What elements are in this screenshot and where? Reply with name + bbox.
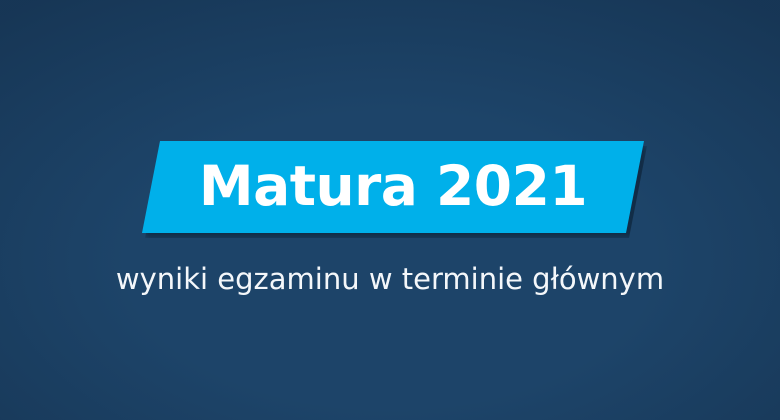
promo-banner-graphic: Matura 2021 wyniki egzaminu w terminie g… [0,0,780,420]
page-title: Matura 2021 [199,159,587,214]
title-banner-container: Matura 2021 [142,141,644,233]
page-subtitle: wyniki egzaminu w terminie głównym [0,262,780,297]
title-banner: Matura 2021 [142,141,644,233]
